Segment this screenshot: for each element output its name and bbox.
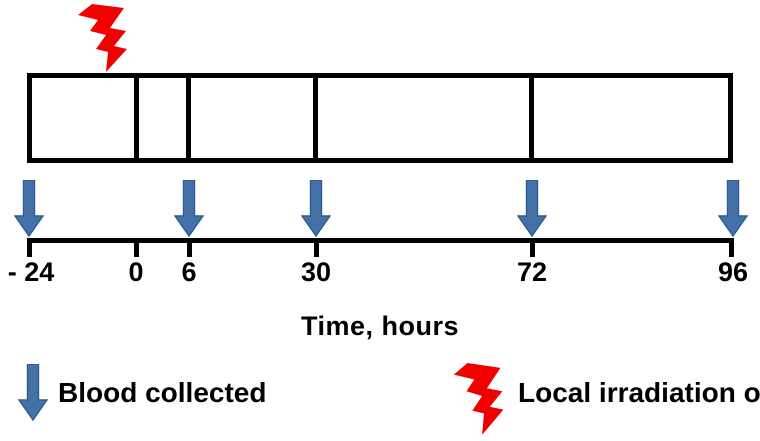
axis-tick-label-minus24: - 24 <box>8 259 55 286</box>
axis-tick-label-96: 96 <box>718 259 748 286</box>
axis-title: Time, hours <box>0 311 760 342</box>
axis-tick-30 <box>314 238 319 257</box>
axis-tick-label-30: 30 <box>301 259 331 286</box>
blood-arrow-minus24 <box>14 180 44 237</box>
lightning-bolt-icon <box>450 358 518 438</box>
timeline-figure: - 24 0 6 30 72 96 Time, hours Blood coll… <box>0 0 760 441</box>
blood-arrow-72 <box>517 180 547 237</box>
phase-divider-30h <box>313 78 318 158</box>
legend-label-local-irradiation: Local irradiation of heart <box>518 379 760 407</box>
lightning-bolt-icon <box>74 2 144 74</box>
blood-arrow-96 <box>718 180 748 237</box>
phase-divider-0h <box>134 78 139 158</box>
down-arrow-icon <box>18 364 48 421</box>
axis-tick-96 <box>729 238 734 257</box>
study-phase-bar <box>27 73 733 163</box>
axis-tick-72 <box>530 238 535 257</box>
axis-tick-minus24 <box>27 238 32 257</box>
blood-arrow-6 <box>174 180 204 237</box>
phase-divider-6h <box>186 78 191 158</box>
axis-tick-label-6: 6 <box>181 259 196 286</box>
axis-tick-0 <box>134 238 139 257</box>
phase-divider-72h <box>529 78 534 158</box>
legend-label-blood-collected: Blood collected <box>58 379 266 407</box>
legend: Blood collected Local irradiation of hea… <box>0 360 760 441</box>
axis-tick-label-0: 0 <box>128 259 143 286</box>
blood-arrow-30 <box>301 180 331 237</box>
axis-tick-label-72: 72 <box>517 259 547 286</box>
axis-tick-6 <box>187 238 192 257</box>
